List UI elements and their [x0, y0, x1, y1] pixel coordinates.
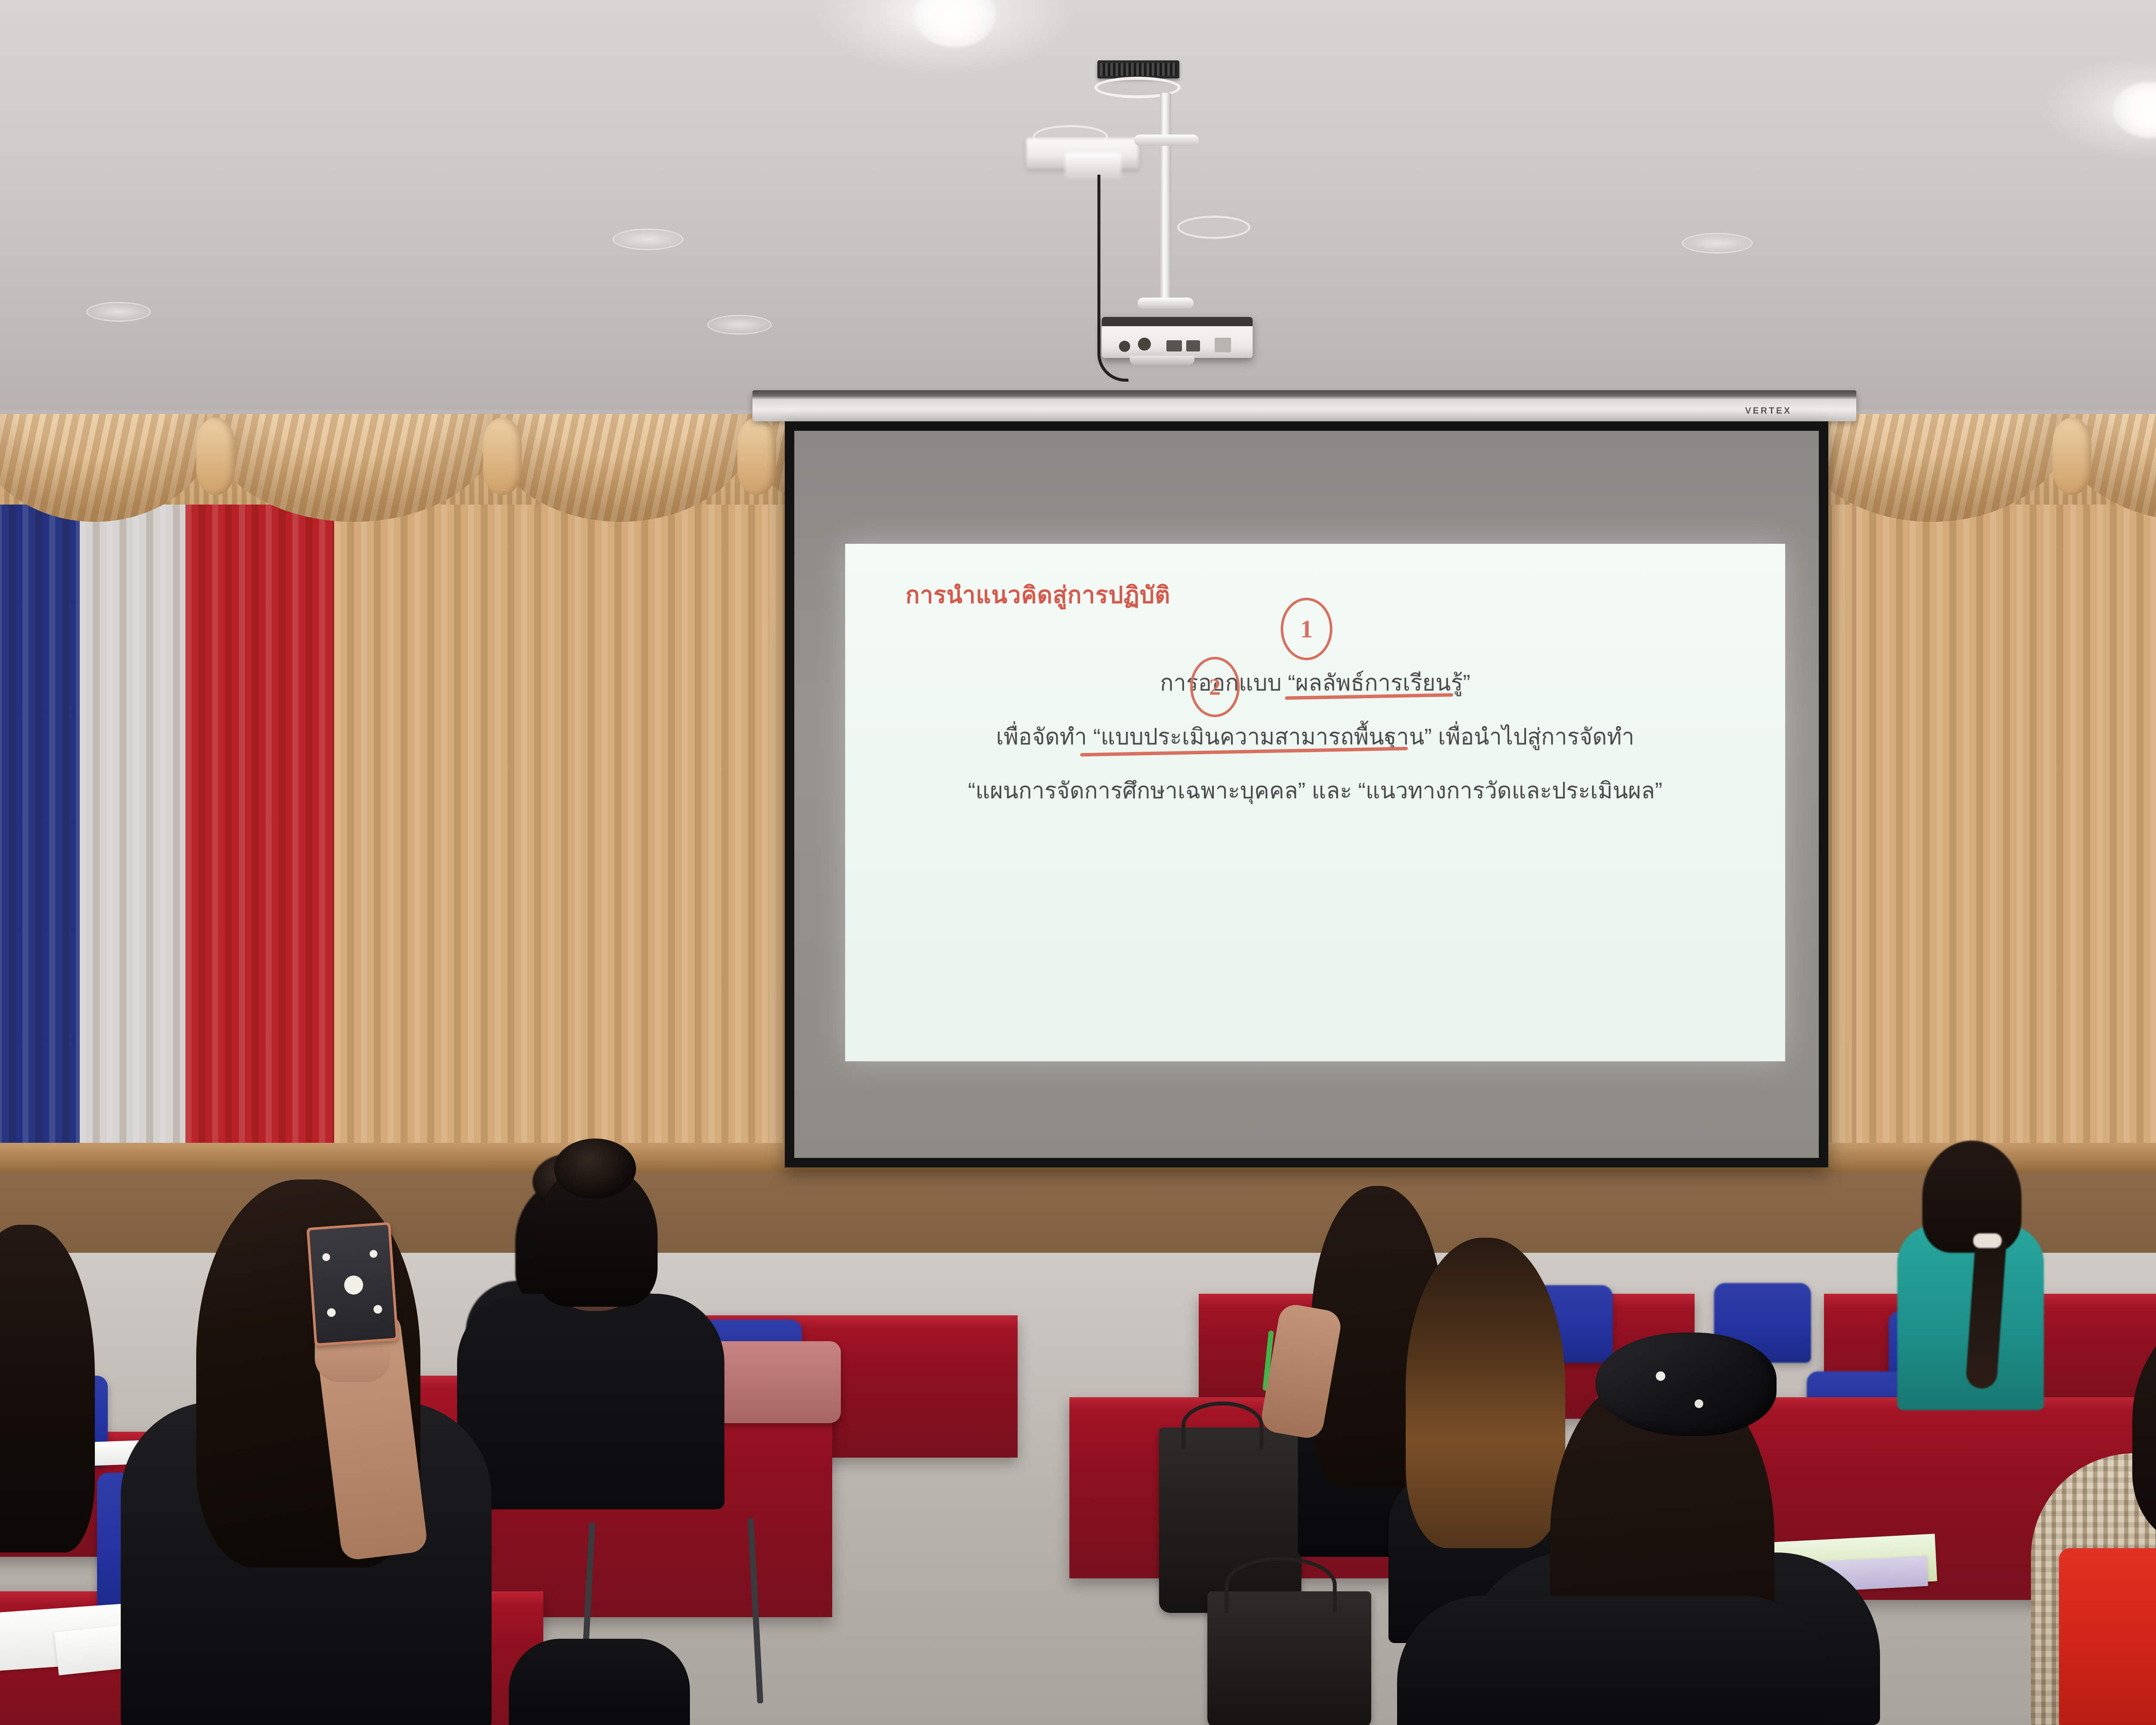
projector-knob: [1119, 341, 1130, 352]
projector-port: [1215, 338, 1231, 352]
handbag-strap: [1181, 1402, 1263, 1449]
hair-bow-accessory: [1595, 1333, 1777, 1436]
seminar-room-scene: VERTEX การนำแนวคิดสู่การปฏิบัติ การออกแบ…: [0, 0, 2156, 1725]
curtain-panel-flag-red: [185, 483, 334, 1149]
attendee: [509, 1621, 690, 1725]
screen-brand-label: VERTEX: [1745, 406, 1792, 416]
projector-joint: [1134, 135, 1199, 146]
handbag-strap: [1225, 1557, 1337, 1613]
attendee: [0, 1199, 116, 1587]
curtain-swag-knot: [483, 417, 522, 495]
smartphone[interactable]: [307, 1222, 399, 1346]
ceiling-vent-icon: [707, 315, 772, 335]
curtain-swag-knot: [2053, 417, 2091, 495]
curtain-panel-flag-white: [80, 483, 185, 1156]
slide-body-line-1: การออกแบบ “ผลลัพธ์การเรียนรู้”: [845, 665, 1785, 700]
curtain-swag-knot: [737, 417, 776, 495]
projector-body: [1102, 317, 1253, 358]
projector-knob: [1138, 338, 1151, 351]
projector-joint: [1138, 298, 1194, 309]
projection-screen-housing: VERTEX: [752, 390, 1856, 421]
attendee-hair-tie: [1973, 1233, 2002, 1248]
ceiling-vent-icon: [86, 302, 151, 322]
attendee-torso: [1397, 1596, 1828, 1725]
presentation-slide: การนำแนวคิดสู่การปฏิบัติ การออกแบบ “ผลลั…: [845, 544, 1785, 1061]
ceiling-speaker-icon: [1177, 216, 1250, 239]
slide-annotation-circle-1: 1: [1281, 598, 1332, 660]
hair-bow-gem-icon: [1656, 1371, 1665, 1381]
attendee-hair: [0, 1225, 95, 1552]
chair-red[interactable]: ม.ร.กพ. แม่สอด: [2059, 1548, 2156, 1725]
projector-port: [1166, 340, 1182, 351]
projector-ceiling-plate: [1097, 60, 1179, 78]
projection-screen[interactable]: การนำแนวคิดสู่การปฏิบัติ การออกแบบ “ผลลั…: [785, 421, 1828, 1167]
curtain-swag-knot: [196, 417, 235, 495]
slide-title: การนำแนวคิดสู่การปฏิบัติ: [906, 576, 1170, 613]
slide-body-line-3: “แผนการจัดการศึกษาเฉพาะบุคคล” และ “แนวทา…: [845, 772, 1785, 808]
projector-drop-pole: [1160, 93, 1171, 304]
slide-annotation-circle-2: 2: [1190, 657, 1240, 717]
projector-port: [1186, 340, 1200, 351]
attendee: [1397, 1544, 1828, 1725]
ceiling-vent-icon: [612, 229, 683, 250]
attendee-hair: [1922, 1141, 2021, 1253]
ceiling-vent-icon: [1682, 233, 1753, 254]
ceiling: [0, 0, 2156, 436]
curtain-panel-gold: [334, 483, 770, 1149]
chair-school-label: ม.ร.กพ. แม่สอด: [2059, 1581, 2156, 1609]
attendee-torso: [509, 1639, 690, 1725]
projector-lens: [1130, 356, 1194, 365]
curtain-panel-gold: [1856, 483, 2156, 1149]
hair-bow-gem-icon: [1695, 1399, 1703, 1408]
curtain-panel-flag-blue: [0, 483, 80, 1156]
